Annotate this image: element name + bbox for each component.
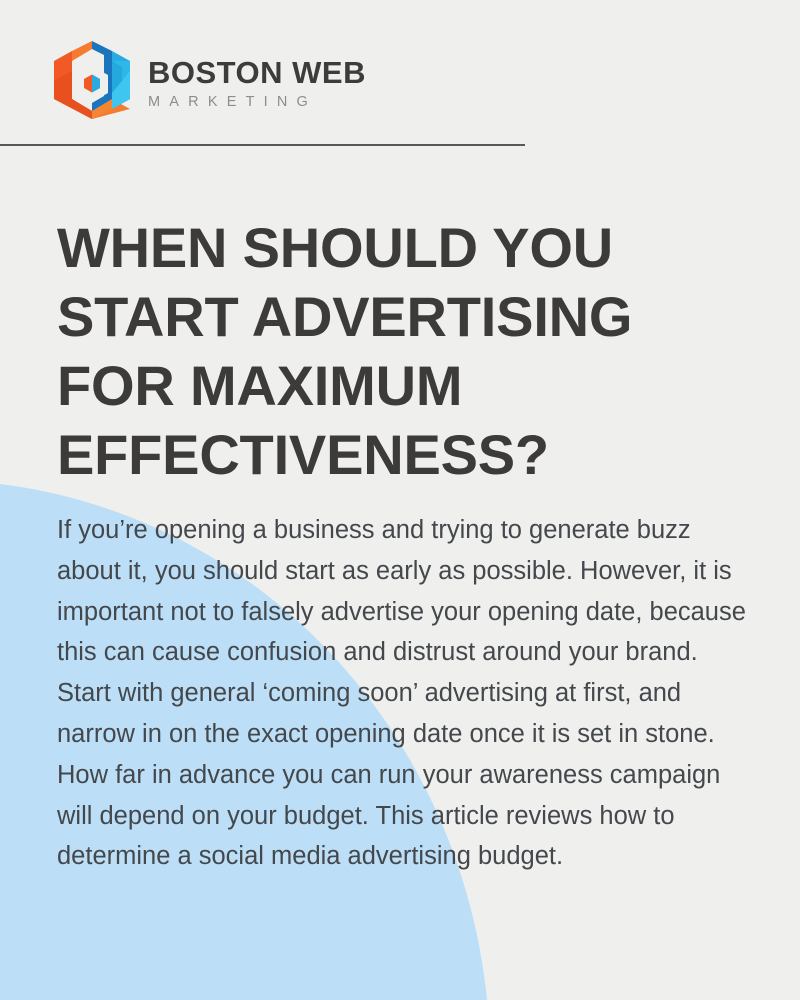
page-title: WHEN SHOULD YOU START ADVERTISING FOR MA… bbox=[57, 213, 737, 489]
brand-wordmark: BOSTON WEB MARKETING bbox=[148, 53, 366, 110]
hexagon-b-logo-icon bbox=[50, 41, 134, 121]
brand-name-primary: BOSTON WEB bbox=[148, 57, 366, 88]
brand-name-secondary: MARKETING bbox=[148, 95, 366, 110]
article-body-text: If you’re opening a business and trying … bbox=[57, 510, 747, 877]
header-divider-rule bbox=[0, 144, 525, 146]
poster-canvas: BOSTON WEB MARKETING WHEN SHOULD YOU STA… bbox=[0, 0, 800, 1000]
brand-logo[interactable]: BOSTON WEB MARKETING bbox=[50, 41, 366, 121]
